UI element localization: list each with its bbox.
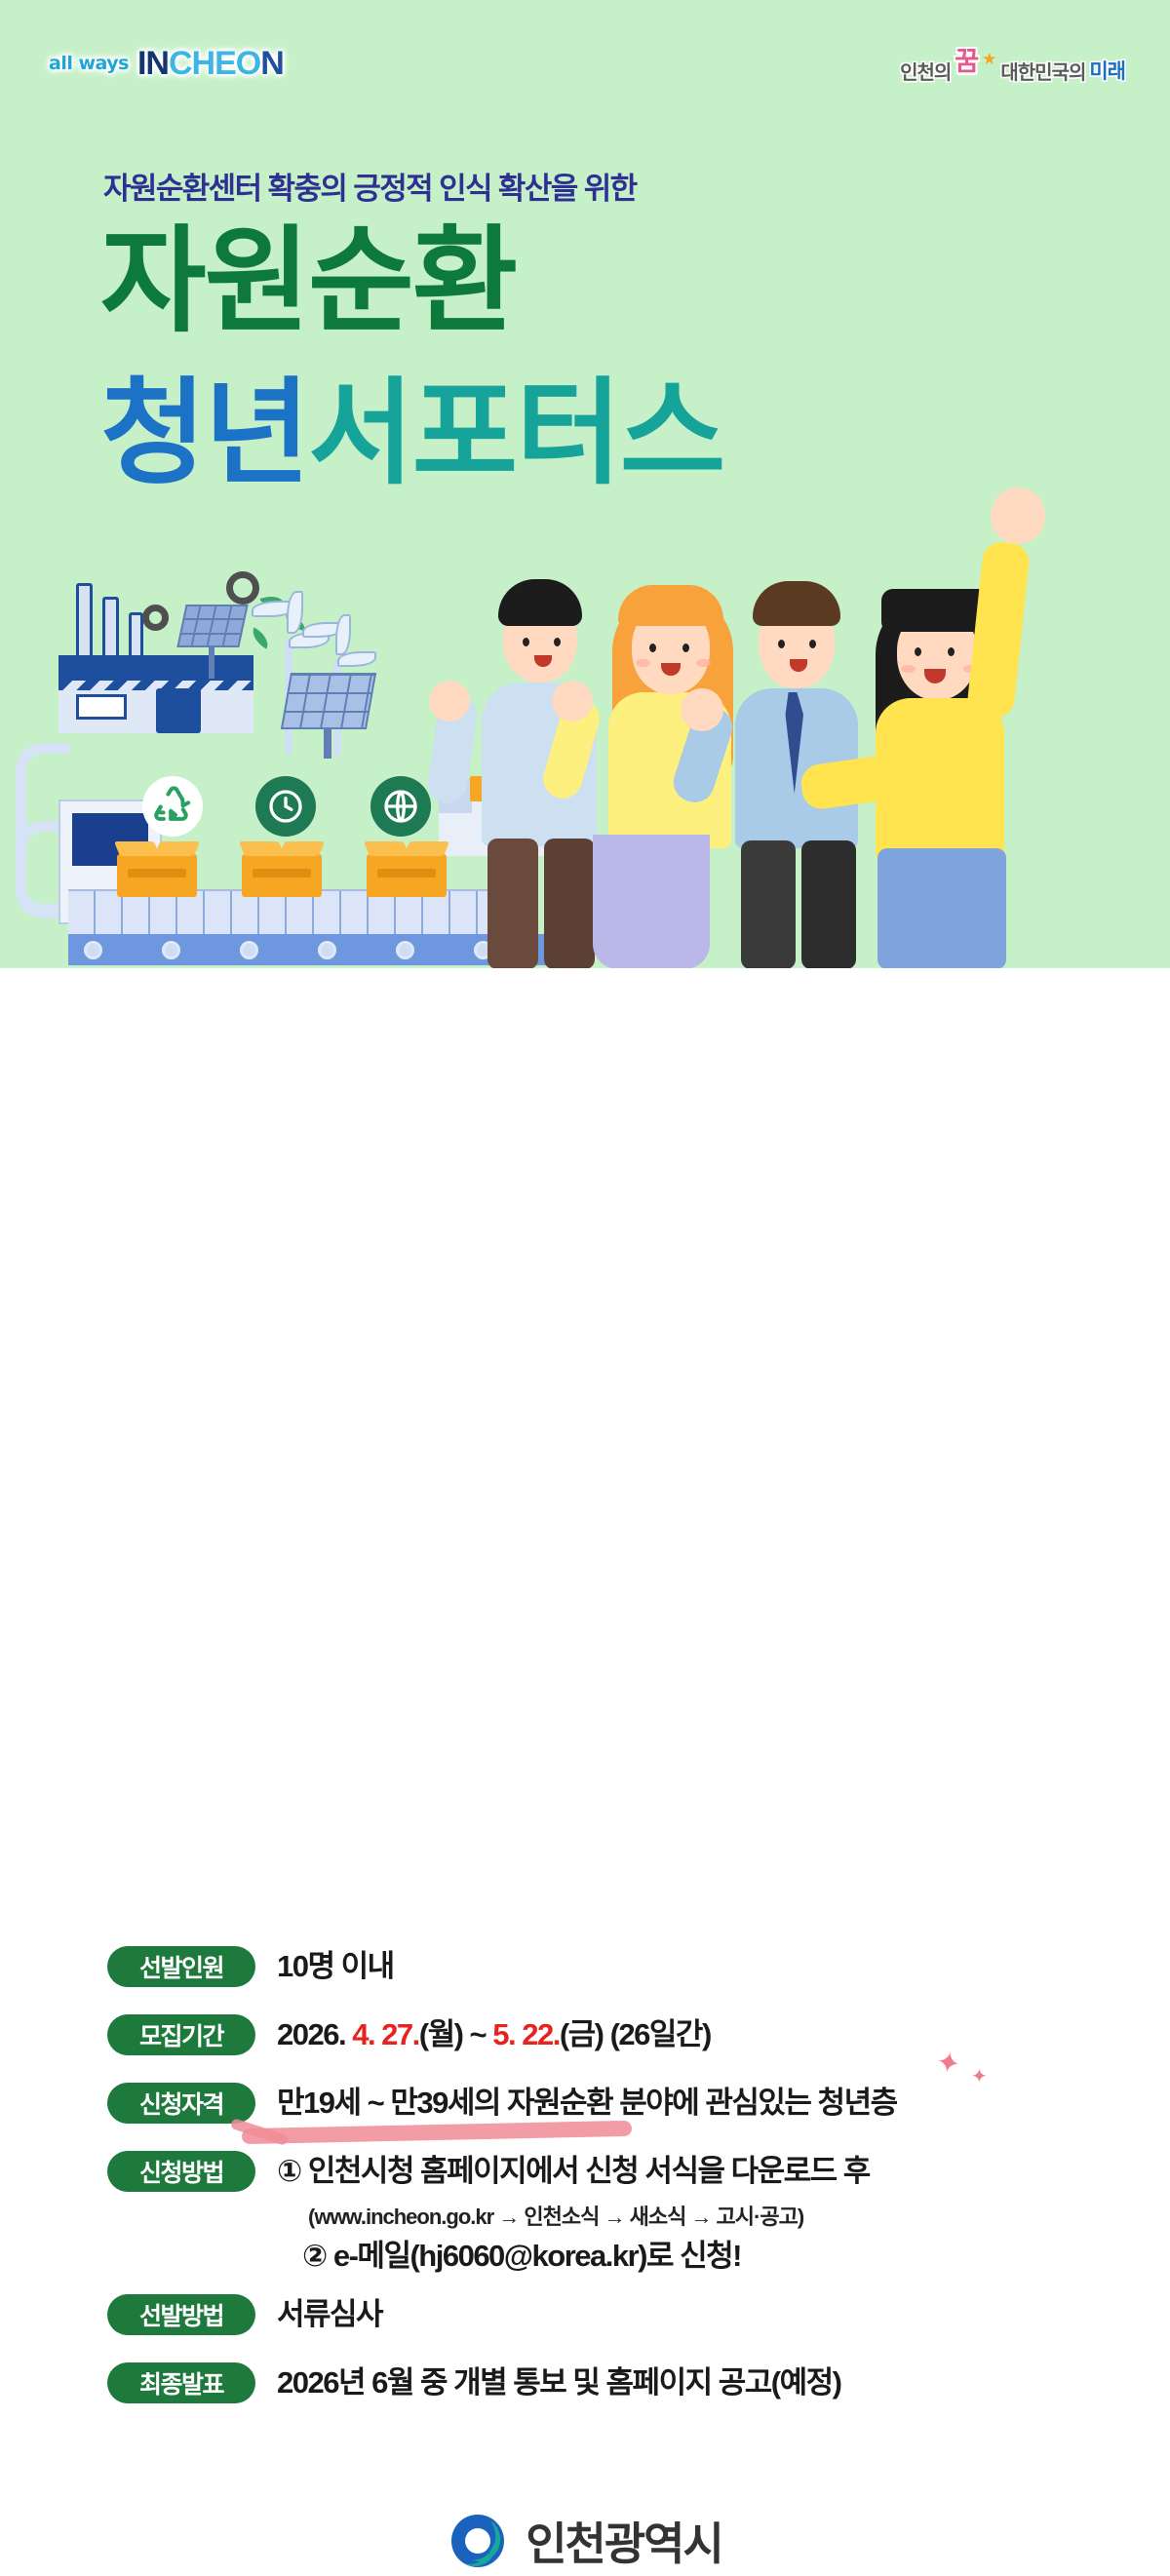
factory-chimney-2 — [102, 597, 119, 659]
solar-panel-2-grid — [281, 673, 376, 729]
info-section: 선발인원 10명 이내 모집기간 2026. 4. 27.(월) ~ 5. 22… — [0, 968, 1170, 1654]
person-4-eye-left — [915, 647, 921, 656]
value-application-method-2: ② e-메일(hj6060@korea.kr)로 신청! — [302, 2236, 741, 2277]
person-2-fringe — [618, 585, 723, 626]
person-2-fist — [552, 681, 593, 722]
person-4-raised-fist — [991, 488, 1045, 544]
tag-application-method: 신청방법 — [107, 2151, 255, 2192]
box-tape — [253, 869, 310, 878]
sparkle-icon-2: ✦ — [971, 2064, 988, 2088]
conveyor-roller — [162, 941, 180, 959]
incheon-city-name: 인천광역시 — [526, 2509, 722, 2573]
incheon-letter-n2: N — [260, 45, 284, 82]
box-flap-left — [364, 841, 409, 856]
hero-subtitle: 자원순환센터 확충의 긍정적 인식 확산을 위한 — [103, 164, 637, 208]
person-4-jeans — [877, 848, 1006, 968]
person-4-blush-left — [901, 665, 916, 673]
turbine-blade-2c — [337, 651, 376, 667]
slogan-dream: 꿈 — [955, 40, 978, 78]
tag-recruitment-period: 모집기간 — [107, 2014, 255, 2055]
person-1-eye-left — [523, 638, 529, 646]
hero-title-supporters: 서포터스 — [308, 370, 723, 498]
cardboard-box — [367, 854, 447, 897]
info-row-recruitment-period: 모집기간 2026. 4. 27.(월) ~ 5. 22.(금) (26일간) — [107, 2014, 711, 2055]
tag-selection-count: 선발인원 — [107, 1946, 255, 1987]
turbine-blade-2b — [335, 614, 351, 655]
conveyor-roller — [318, 941, 336, 959]
person-1-eye-right — [554, 638, 561, 646]
info-row-selection-count: 선발인원 10명 이내 — [107, 1946, 394, 1987]
slogan-future: 미래 — [1089, 56, 1125, 85]
hero-title-youth: 청년 — [100, 370, 308, 498]
person-3-leg-left — [741, 840, 796, 968]
clock-icon — [255, 776, 316, 837]
factory-window — [76, 694, 127, 720]
person-1-fist — [429, 681, 470, 722]
box-flap-right — [279, 841, 325, 856]
hero-title-line2: 청년서포터스 — [100, 369, 723, 501]
slogan-part1: 인천의 — [900, 57, 951, 85]
hero-section: all ways INCHEON 인천의 꿈 ★ 대한민국의 미래 자원순환센터… — [0, 0, 1170, 968]
highlight-underline — [242, 2121, 632, 2144]
incheon-letter-h: H — [192, 45, 215, 82]
conveyor-roller — [396, 941, 414, 959]
tag-qualification: 신청자격 — [107, 2083, 255, 2124]
info-row-final-announcement: 최종발표 2026년 6월 중 개별 통보 및 홈페이지 공고(예정) — [107, 2362, 840, 2403]
conveyor-belt-band — [68, 934, 546, 965]
globe-icon — [370, 776, 431, 837]
person-1-hair — [498, 579, 582, 626]
person-3-eye-right — [809, 640, 816, 648]
value-selection-count: 10명 이내 — [277, 1946, 394, 1987]
value-final-announcement: 2026년 6월 중 개별 통보 및 홈페이지 공고(예정) — [277, 2362, 840, 2403]
info-row-qualification: 신청자격 만19세 ~ 만39세의 자원순환 분야에 관심있는 청년층 — [107, 2083, 897, 2124]
poster-root: all ways INCHEON 인천의 꿈 ★ 대한민국의 미래 자원순환센터… — [0, 0, 1170, 1654]
cardboard-box — [242, 854, 322, 897]
info-row-application-method: 신청방법 ① 인천시청 홈페이지에서 신청 서식을 다운로드 후 — [107, 2151, 870, 2192]
recycle-icon — [142, 776, 203, 837]
period-start-date: 4. 27. — [352, 2017, 419, 2051]
person-1-leg-left — [487, 839, 538, 968]
sparkle-icon-1: ✦ — [933, 2045, 963, 2083]
leaf-icon-3 — [248, 627, 273, 648]
person-2-eye-right — [682, 644, 689, 652]
person-2-eye-left — [649, 644, 656, 652]
star-icon: ★ — [982, 50, 996, 69]
cardboard-box — [117, 854, 197, 897]
slogan-part2: 대한민국의 — [1000, 57, 1085, 85]
gear-icon-2 — [142, 605, 169, 631]
incheon-letter-c: C — [169, 45, 192, 82]
person-3-eye-left — [778, 640, 785, 648]
allways-incheon-logo: all ways INCHEON — [49, 47, 284, 80]
allways-text: all ways — [49, 53, 129, 74]
period-end-date: 5. 22. — [492, 2017, 560, 2051]
solar-panel-2-post — [324, 727, 331, 759]
box-flap-right — [154, 841, 200, 856]
person-2-blush-right — [696, 659, 711, 667]
factory-chimney-1 — [76, 583, 93, 659]
person-4-eye-right — [948, 647, 955, 656]
tag-selection-method: 선발방법 — [107, 2294, 255, 2335]
person-2-blush-left — [636, 659, 650, 667]
box-tape — [377, 869, 435, 878]
period-prefix: 2026. — [277, 2017, 352, 2051]
period-mid: (월) ~ — [419, 2017, 493, 2051]
hero-title-line1: 자원순환 — [100, 216, 516, 349]
person-4-raised-arm — [966, 540, 1032, 720]
factory-door — [156, 688, 201, 733]
incheon-letter-n: N — [145, 45, 169, 82]
application-path-note: (www.incheon.go.kr → 인천소식 → 새소식 → 고시·공고) — [308, 2200, 803, 2231]
factory-roof — [58, 655, 253, 681]
person-4-shirt — [876, 698, 1004, 860]
tag-final-announcement: 최종발표 — [107, 2362, 255, 2403]
person-1-leg-right — [544, 839, 595, 968]
box-tape — [128, 869, 185, 878]
solar-panel-1-post — [209, 645, 214, 679]
value-application-method-1: ① 인천시청 홈페이지에서 신청 서식을 다운로드 후 — [277, 2151, 870, 2192]
person-3-leg-right — [801, 840, 856, 968]
incheon-wordmark: INCHEON — [137, 47, 284, 80]
incheon-slogan-logo: 인천의 꿈 ★ 대한민국의 미래 — [900, 47, 1125, 85]
factory-chimney-3 — [129, 612, 143, 659]
person-3-fist — [681, 688, 723, 731]
box-flap-right — [404, 841, 449, 856]
value-selection-method: 서류심사 — [277, 2294, 382, 2335]
conveyor-roller — [240, 941, 258, 959]
value-recruitment-period: 2026. 4. 27.(월) ~ 5. 22.(금) (26일간) — [277, 2014, 711, 2055]
info-row-selection-method: 선발방법 서류심사 — [107, 2294, 382, 2335]
solar-panel-1-grid — [176, 605, 248, 647]
incheon-emblem-icon — [448, 2511, 508, 2571]
period-suffix: (금) (26일간) — [560, 2017, 711, 2051]
person-3-hair — [753, 581, 840, 626]
conveyor-roller — [84, 941, 102, 959]
person-2-skirt — [593, 835, 710, 968]
value-qualification: 만19세 ~ 만39세의 자원순환 분야에 관심있는 청년층 — [277, 2083, 897, 2124]
incheon-city-logo: 인천광역시 — [0, 2509, 1170, 2573]
box-flap-left — [239, 841, 285, 856]
gear-icon — [226, 571, 259, 605]
incheon-letter-o: O — [236, 45, 260, 82]
box-flap-left — [114, 841, 160, 856]
incheon-letter-e: E — [214, 45, 236, 82]
